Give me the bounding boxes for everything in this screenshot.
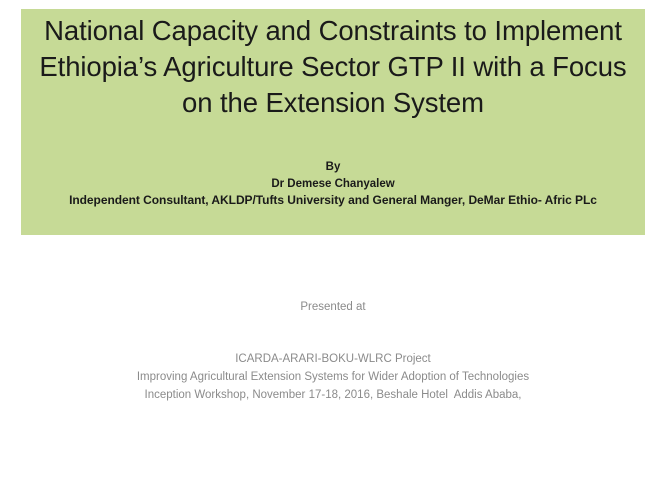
title-line-3: on the Extension System [21, 85, 645, 121]
title-line-1: National Capacity and Constraints to Imp… [21, 13, 645, 49]
title-line-2: Ethiopia’s Agriculture Sector GTP II wit… [21, 49, 645, 85]
title-panel: National Capacity and Constraints to Imp… [21, 9, 645, 235]
presented-at-block: Presented at [0, 298, 666, 316]
venue-block: ICARDA-ARARI-BOKU-WLRC Project Improving… [0, 350, 666, 404]
byline-author-name: Dr Demese Chanyalew [21, 176, 645, 193]
presented-at-label: Presented at [0, 298, 666, 316]
byline-by-label: By [21, 159, 645, 176]
byline-affiliation: Independent Consultant, AKLDP/Tufts Univ… [21, 192, 645, 209]
venue-line-workshop: Inception Workshop, November 17-18, 2016… [0, 386, 666, 404]
presentation-slide: National Capacity and Constraints to Imp… [0, 0, 666, 500]
venue-line-subtitle: Improving Agricultural Extension Systems… [0, 368, 666, 386]
byline-block: By Dr Demese Chanyalew Independent Consu… [21, 159, 645, 209]
venue-line-project: ICARDA-ARARI-BOKU-WLRC Project [0, 350, 666, 368]
slide-title: National Capacity and Constraints to Imp… [21, 13, 645, 121]
